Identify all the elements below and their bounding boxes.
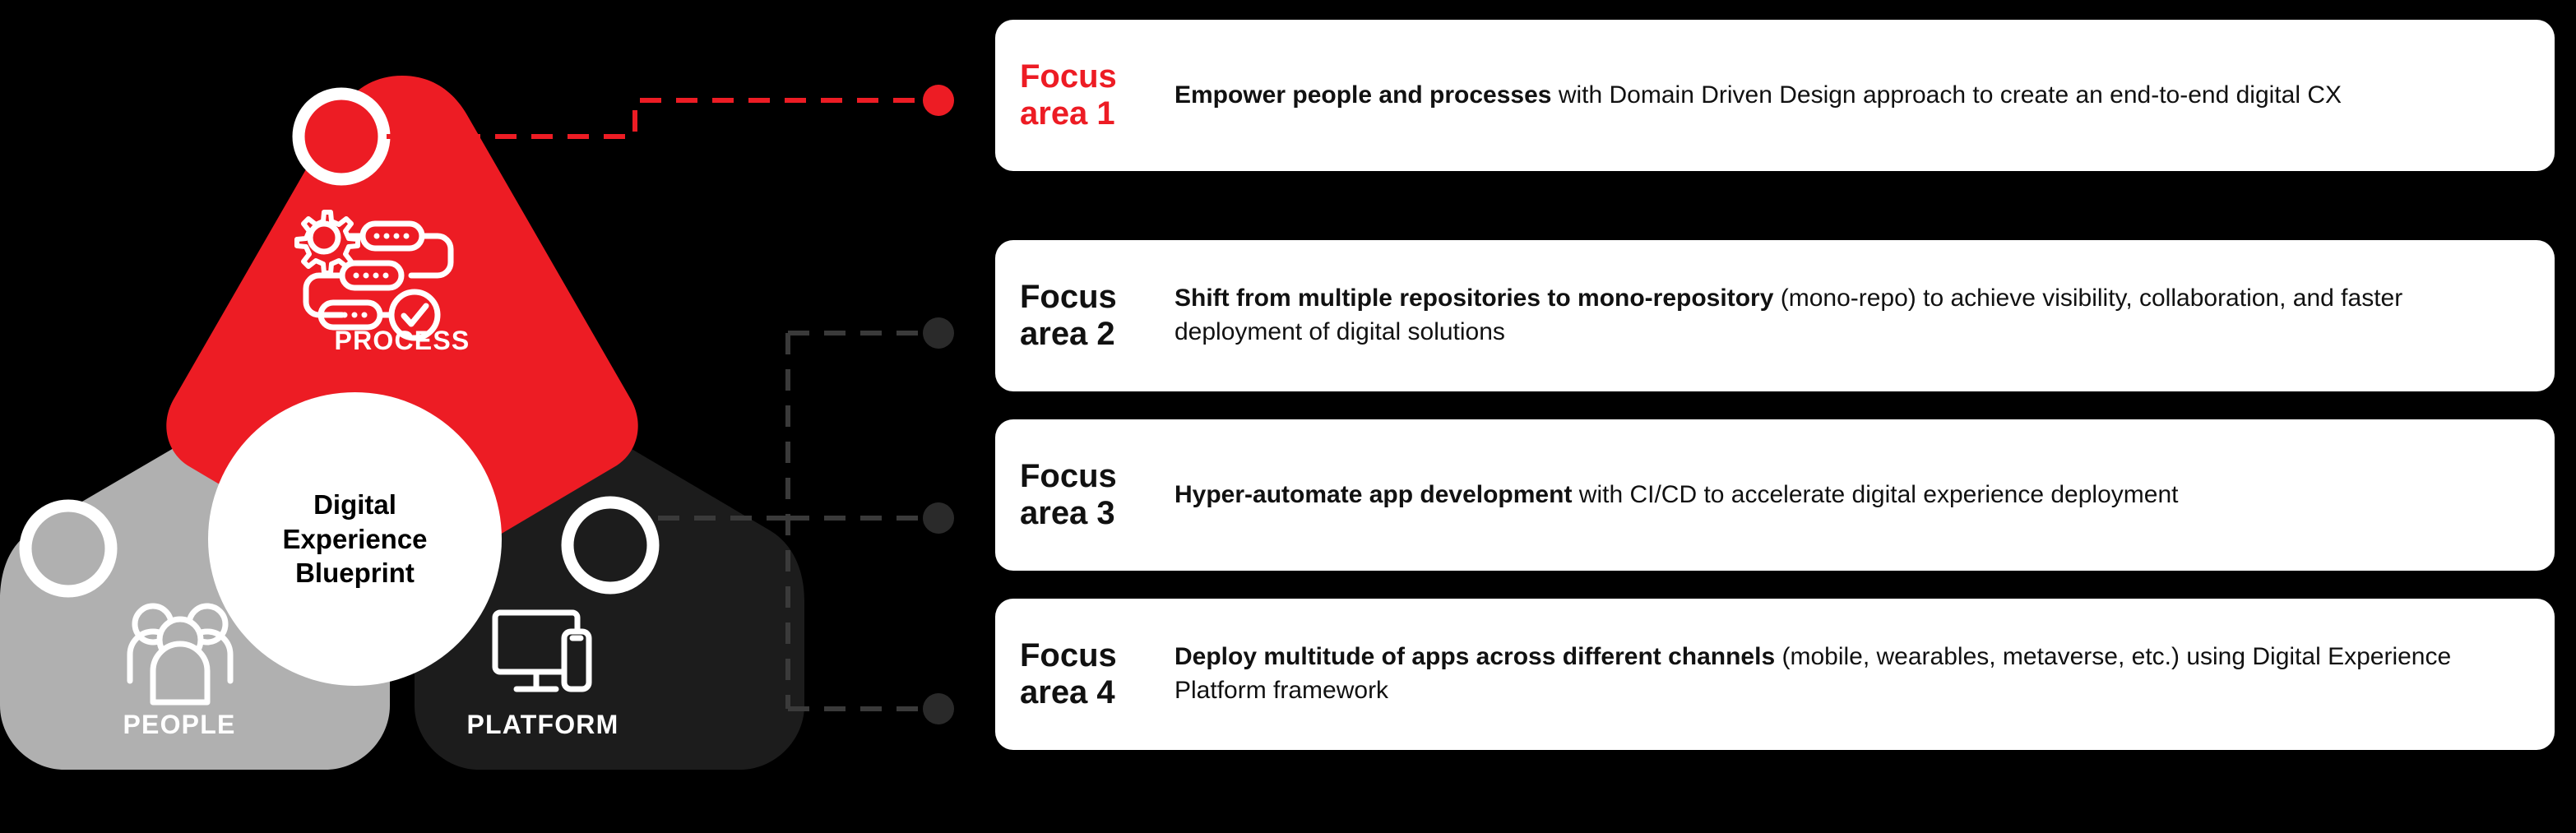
platform-node-ring — [568, 502, 653, 588]
focus-area-card-3[interactable]: Focus area 3 Hyper-automate app developm… — [995, 419, 2555, 571]
focus-area-tag-4: Focus area 4 — [1020, 637, 1151, 711]
focus-area-card-1[interactable]: Focus area 1 Empower people and processe… — [995, 20, 2555, 171]
focus-area-text-1: Empower people and processes with Domain… — [1174, 79, 2527, 113]
digital-experience-blueprint-diagram: PROCESS PEOPLE — [0, 0, 987, 833]
focus-area-bold-2: Shift from multiple repositories to mono… — [1174, 285, 1773, 312]
segment-label-people: PEOPLE — [123, 710, 235, 739]
focus-area-text-2: Shift from multiple repositories to mono… — [1174, 282, 2527, 349]
segment-label-process: PROCESS — [335, 326, 470, 355]
focus-area-card-4[interactable]: Focus area 4 Deploy multitude of apps ac… — [995, 599, 2555, 750]
center-circle-label: Digital Experience Blueprint — [282, 488, 427, 590]
connector-dot-focus-area-1 — [923, 85, 954, 116]
process-node-ring — [299, 94, 384, 179]
focus-area-tag-2: Focus area 2 — [1020, 279, 1151, 353]
connector-dot-focus-area-2 — [923, 317, 954, 349]
center-circle-digital-experience-blueprint[interactable]: Digital Experience Blueprint — [208, 392, 502, 686]
connector-dot-focus-area-3 — [923, 502, 954, 534]
focus-area-rest-3: with CI/CD to accelerate digital experie… — [1572, 481, 2178, 508]
center-label-line-1: Digital — [282, 488, 427, 522]
segment-label-platform: PLATFORM — [467, 710, 619, 739]
blueprint-svg: PROCESS PEOPLE — [0, 0, 987, 833]
focus-area-text-3: Hyper-automate app development with CI/C… — [1174, 479, 2527, 512]
focus-area-rest-1: with Domain Driven Design approach to cr… — [1551, 81, 2342, 109]
focus-area-bold-4: Deploy multitude of apps across differen… — [1174, 643, 1775, 670]
diagram-canvas: PROCESS PEOPLE — [0, 0, 2576, 833]
center-label-line-2: Experience — [282, 522, 427, 557]
focus-area-tag-1: Focus area 1 — [1020, 58, 1151, 132]
people-node-ring — [25, 506, 111, 591]
focus-area-tag-3: Focus area 3 — [1020, 458, 1151, 532]
focus-area-bold-1: Empower people and processes — [1174, 81, 1551, 109]
focus-area-bold-3: Hyper-automate app development — [1174, 481, 1572, 508]
focus-area-card-2[interactable]: Focus area 2 Shift from multiple reposit… — [995, 240, 2555, 391]
focus-area-text-4: Deploy multitude of apps across differen… — [1174, 641, 2527, 708]
center-label-line-3: Blueprint — [282, 556, 427, 590]
connector-dot-focus-area-4 — [923, 693, 954, 724]
